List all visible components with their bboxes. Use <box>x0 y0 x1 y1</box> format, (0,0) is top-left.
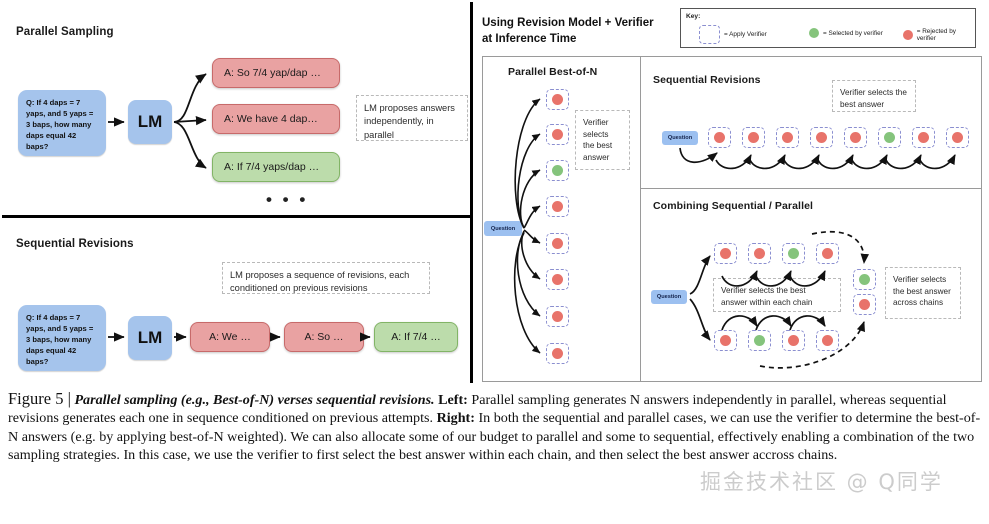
seq-node-2 <box>742 127 765 148</box>
comb-top-node-2 <box>748 243 771 264</box>
parallel-answer-1: A: So 7/4 yap/dap … <box>212 58 340 88</box>
red-dot-icon <box>552 238 563 249</box>
comb-top-node-1 <box>714 243 737 264</box>
bon-node-2 <box>546 124 569 145</box>
parallel-note: LM proposes answers independently, in pa… <box>356 95 468 141</box>
sequential-answer-3: A: If 7/4 … <box>374 322 458 352</box>
combining-question-tag: Question <box>651 290 687 304</box>
red-dot-icon <box>552 129 563 140</box>
bon-node-7 <box>546 306 569 327</box>
bon-node-3 <box>546 160 569 181</box>
dashed-box-icon <box>699 25 720 44</box>
red-dot-icon <box>714 132 725 143</box>
comb-top-node-4 <box>816 243 839 264</box>
red-dot-icon <box>720 335 731 346</box>
parallel-question-box: Q: If 4 daps = 7 yaps, and 5 yaps = 3 ba… <box>18 90 106 156</box>
parallel-sampling-title: Parallel Sampling <box>16 26 114 38</box>
bon-node-4 <box>546 196 569 217</box>
seq-node-6 <box>878 127 901 148</box>
comb-finalist-2 <box>853 294 876 315</box>
red-dot-icon <box>850 132 861 143</box>
bon-node-6 <box>546 269 569 290</box>
seq-node-4 <box>810 127 833 148</box>
seq-rev-note: Verifier selects the best answer <box>832 80 916 112</box>
vertical-divider <box>470 2 473 383</box>
comb-bottom-node-4 <box>816 330 839 351</box>
key-item-selected-label: = Selected by verifier <box>823 30 883 37</box>
seq-rev-question-tag: Question <box>662 131 698 145</box>
bon-question-tag: Question <box>484 221 522 236</box>
panel-separator-top <box>482 56 982 57</box>
figure-caption: Figure 5 | Parallel sampling (e.g., Best… <box>8 388 983 464</box>
watermark: 掘金技术社区 @ Q同学 <box>700 466 989 506</box>
panel-edge-right <box>981 56 982 382</box>
bon-node-8 <box>546 343 569 364</box>
combining-inner-note: Verifier selects the best answer within … <box>713 278 841 312</box>
green-dot-icon <box>809 28 819 38</box>
seq-node-3 <box>776 127 799 148</box>
sequential-note: LM proposes a sequence of revisions, eac… <box>222 262 430 294</box>
red-dot-icon <box>552 348 563 359</box>
key-item-apply-verifier: = Apply Verifier <box>699 25 767 44</box>
panel-edge-bottom <box>482 381 982 382</box>
caption-figure-number: Figure 5 <box>8 389 63 408</box>
caption-left-label: Left: <box>438 392 468 408</box>
sequential-question-box: Q: If 4 daps = 7 yaps, and 5 yaps = 3 ba… <box>18 305 106 371</box>
red-dot-icon <box>552 311 563 322</box>
red-dot-icon <box>552 94 563 105</box>
comb-bottom-node-3 <box>782 330 805 351</box>
red-dot-icon <box>788 335 799 346</box>
red-dot-icon <box>918 132 929 143</box>
green-dot-icon <box>859 274 870 285</box>
sequential-revisions-title-left: Sequential Revisions <box>16 238 134 250</box>
caption-title: Parallel sampling (e.g., Best-of-N) vers… <box>74 392 434 408</box>
red-dot-icon <box>748 132 759 143</box>
red-dot-icon <box>754 248 765 259</box>
seq-node-8 <box>946 127 969 148</box>
parallel-answer-2: A: We have 4 dap… <box>212 104 340 134</box>
seq-node-1 <box>708 127 731 148</box>
green-dot-icon <box>552 165 563 176</box>
bon-node-5 <box>546 233 569 254</box>
red-dot-icon <box>782 132 793 143</box>
red-dot-icon <box>822 248 833 259</box>
red-dot-icon <box>552 201 563 212</box>
comb-bottom-node-1 <box>714 330 737 351</box>
bon-node-1 <box>546 89 569 110</box>
parallel-ellipsis: • • • <box>266 190 308 210</box>
green-dot-icon <box>788 248 799 259</box>
seq-node-7 <box>912 127 935 148</box>
red-dot-icon <box>552 274 563 285</box>
green-dot-icon <box>884 132 895 143</box>
key-item-rejected-label: = Rejected by verifier <box>917 28 975 42</box>
red-dot-icon <box>903 30 913 40</box>
red-dot-icon <box>952 132 963 143</box>
sequential-answer-2: A: So … <box>284 322 364 352</box>
seq-rev-title-right: Sequential Revisions <box>653 74 761 86</box>
panel-separator-mid <box>640 188 982 189</box>
parallel-best-of-n-title: Parallel Best-of-N <box>508 66 597 78</box>
comb-bottom-node-2 <box>748 330 771 351</box>
right-panel-title: Using Revision Model + Verifier at Infer… <box>482 16 657 47</box>
bon-note: Verifier selects the best answer <box>575 110 630 170</box>
caption-separator: | <box>68 389 71 408</box>
parallel-answer-3: A: If 7/4 yaps/dap … <box>212 152 340 182</box>
red-dot-icon <box>859 299 870 310</box>
green-dot-icon <box>754 335 765 346</box>
red-dot-icon <box>822 335 833 346</box>
caption-right-label: Right: <box>437 410 475 426</box>
combining-title: Combining Sequential / Parallel <box>653 200 813 212</box>
horizontal-divider <box>2 215 470 218</box>
comb-finalist-1 <box>853 269 876 290</box>
combining-outer-note: Verifier selects the best answer across … <box>885 267 961 319</box>
key-legend: Key: = Apply Verifier = Selected by veri… <box>680 8 976 48</box>
key-label: Key: <box>686 13 700 20</box>
red-dot-icon <box>816 132 827 143</box>
figure-panel: Parallel Sampling Q: If 4 daps = 7 yaps,… <box>0 0 989 385</box>
sequential-lm-box: LM <box>128 316 172 360</box>
comb-top-node-3 <box>782 243 805 264</box>
panel-separator-vertical <box>640 56 641 382</box>
red-dot-icon <box>720 248 731 259</box>
sequential-answer-1: A: We … <box>190 322 270 352</box>
key-item-rejected: = Rejected by verifier <box>903 28 975 42</box>
seq-node-5 <box>844 127 867 148</box>
parallel-lm-box: LM <box>128 100 172 144</box>
panel-edge-left <box>482 56 483 382</box>
key-item-apply-verifier-label: = Apply Verifier <box>724 31 767 38</box>
key-item-selected: = Selected by verifier <box>809 28 883 38</box>
